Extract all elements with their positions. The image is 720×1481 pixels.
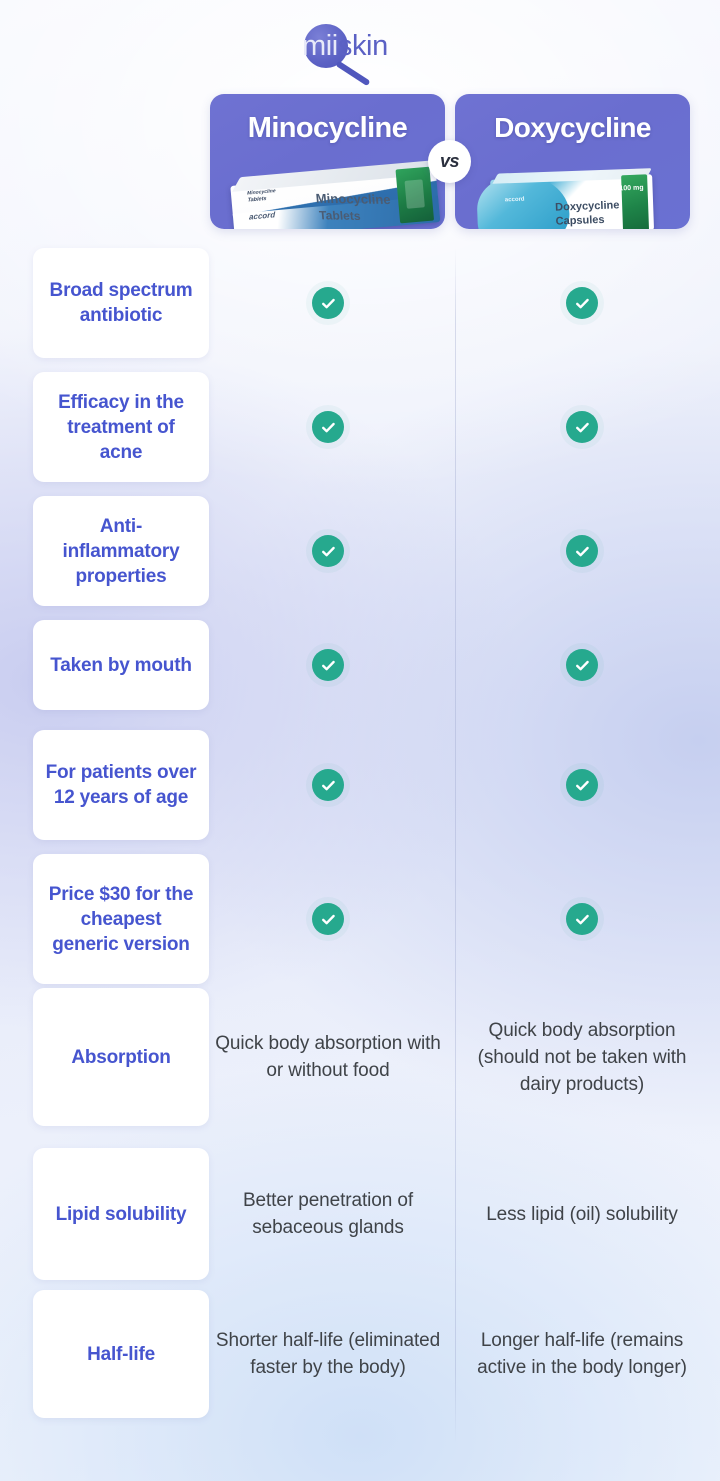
row-value-text: Less lipid (oil) solubility — [486, 1201, 678, 1228]
package-brand-label: accord — [505, 197, 525, 204]
comparison-row: Price $30 for the cheapest generic versi… — [0, 854, 720, 984]
row-value-minocycline — [214, 854, 442, 984]
row-value-doxycycline — [468, 248, 696, 358]
check-circle-icon — [312, 903, 344, 935]
row-value-minocycline — [214, 372, 442, 482]
brand-logo: miiskin — [0, 22, 720, 78]
check-circle-icon — [312, 769, 344, 801]
row-value-minocycline: Shorter half-life (eliminated faster by … — [214, 1290, 442, 1418]
package-name-line-2: Capsules — [555, 214, 604, 228]
row-label-card: Broad spectrum antibiotic — [33, 248, 209, 358]
row-value-minocycline: Quick body absorption with or without fo… — [214, 988, 442, 1126]
row-label-text: Anti-inflammatory properties — [45, 514, 197, 589]
row-value-text: Better penetration of sebaceous glands — [214, 1187, 442, 1241]
row-label-card: Lipid solubility — [33, 1148, 209, 1280]
check-circle-icon — [566, 903, 598, 935]
row-value-text: Shorter half-life (eliminated faster by … — [214, 1327, 442, 1381]
check-circle-icon — [566, 649, 598, 681]
row-value-doxycycline — [468, 372, 696, 482]
comparison-row: Anti-inflammatory properties — [0, 496, 720, 606]
comparison-row: Efficacy in the treatment of acne — [0, 372, 720, 482]
comparison-row: For patients over 12 years of age — [0, 730, 720, 840]
package-name-line-2: Tablets — [319, 208, 362, 223]
row-value-doxycycline — [468, 730, 696, 840]
row-value-text: Longer half-life (remains active in the … — [468, 1327, 696, 1381]
product-title-minocycline: Minocycline — [210, 112, 445, 145]
comparison-row: Broad spectrum antibiotic — [0, 248, 720, 358]
row-value-doxycycline: Quick body absorption (should not be tak… — [468, 988, 696, 1126]
check-circle-icon — [312, 535, 344, 567]
check-circle-icon — [566, 535, 598, 567]
comparison-row: Lipid solubilityBetter penetration of se… — [0, 1148, 720, 1280]
versus-badge-label: vs — [440, 151, 459, 172]
row-value-minocycline: Better penetration of sebaceous glands — [214, 1148, 442, 1280]
row-label-card: Efficacy in the treatment of acne — [33, 372, 209, 482]
row-value-minocycline — [214, 730, 442, 840]
row-label-card: Anti-inflammatory properties — [33, 496, 209, 606]
row-label-text: Efficacy in the treatment of acne — [45, 390, 197, 465]
row-label-text: Taken by mouth — [50, 653, 191, 678]
row-value-doxycycline — [468, 620, 696, 710]
row-value-doxycycline — [468, 854, 696, 984]
row-label-text: Absorption — [71, 1045, 170, 1070]
row-label-card: Half-life — [33, 1290, 209, 1418]
package-name-line-1: Minocycline — [315, 191, 391, 207]
row-value-doxycycline: Longer half-life (remains active in the … — [468, 1290, 696, 1418]
check-circle-icon — [312, 287, 344, 319]
row-label-text: Broad spectrum antibiotic — [45, 278, 197, 328]
row-label-card: For patients over 12 years of age — [33, 730, 209, 840]
product-card-minocycline: Minocycline Minocycline Tablets accord M… — [210, 94, 445, 229]
package-dose-label: 100 mg — [619, 184, 643, 193]
versus-badge: vs — [428, 140, 471, 183]
check-circle-icon — [566, 287, 598, 319]
row-value-text: Quick body absorption (should not be tak… — [468, 1017, 696, 1098]
row-label-card: Absorption — [33, 988, 209, 1126]
comparison-infographic: miiskin Minocycline Minocycline Tablets … — [0, 0, 720, 1481]
column-divider — [455, 248, 456, 1443]
row-label-text: Lipid solubility — [56, 1202, 187, 1227]
doxycycline-package-image: 100 mg accord Doxycycline Capsules — [490, 168, 654, 229]
magnifier-handle-icon — [335, 60, 370, 86]
logo-wordmark-first: mii — [302, 30, 338, 62]
check-circle-icon — [566, 411, 598, 443]
row-value-doxycycline: Less lipid (oil) solubility — [468, 1148, 696, 1280]
row-value-minocycline — [214, 496, 442, 606]
row-label-card: Taken by mouth — [33, 620, 209, 710]
row-value-doxycycline — [468, 496, 696, 606]
row-value-text: Quick body absorption with or without fo… — [214, 1030, 442, 1084]
row-value-minocycline — [214, 620, 442, 710]
logo-wordmark-second: skin — [338, 30, 388, 62]
check-circle-icon — [312, 649, 344, 681]
check-circle-icon — [312, 411, 344, 443]
package-name-line-1: Doxycycline — [555, 199, 620, 213]
row-label-text: Price $30 for the cheapest generic versi… — [45, 882, 197, 957]
row-value-minocycline — [214, 248, 442, 358]
product-card-doxycycline: Doxycycline 100 mg accord Doxycycline Ca… — [455, 94, 690, 229]
comparison-row: Half-lifeShorter half-life (eliminated f… — [0, 1290, 720, 1418]
minocycline-package-image: Minocycline Tablets accord Minocycline T… — [230, 160, 441, 229]
comparison-row: Taken by mouth — [0, 620, 720, 710]
product-title-doxycycline: Doxycycline — [455, 112, 690, 144]
row-label-text: For patients over 12 years of age — [45, 760, 197, 810]
logo-wordmark: miiskin — [302, 31, 388, 61]
row-label-card: Price $30 for the cheapest generic versi… — [33, 854, 209, 984]
check-circle-icon — [566, 769, 598, 801]
comparison-row: AbsorptionQuick body absorption with or … — [0, 988, 720, 1126]
row-label-text: Half-life — [87, 1342, 155, 1367]
